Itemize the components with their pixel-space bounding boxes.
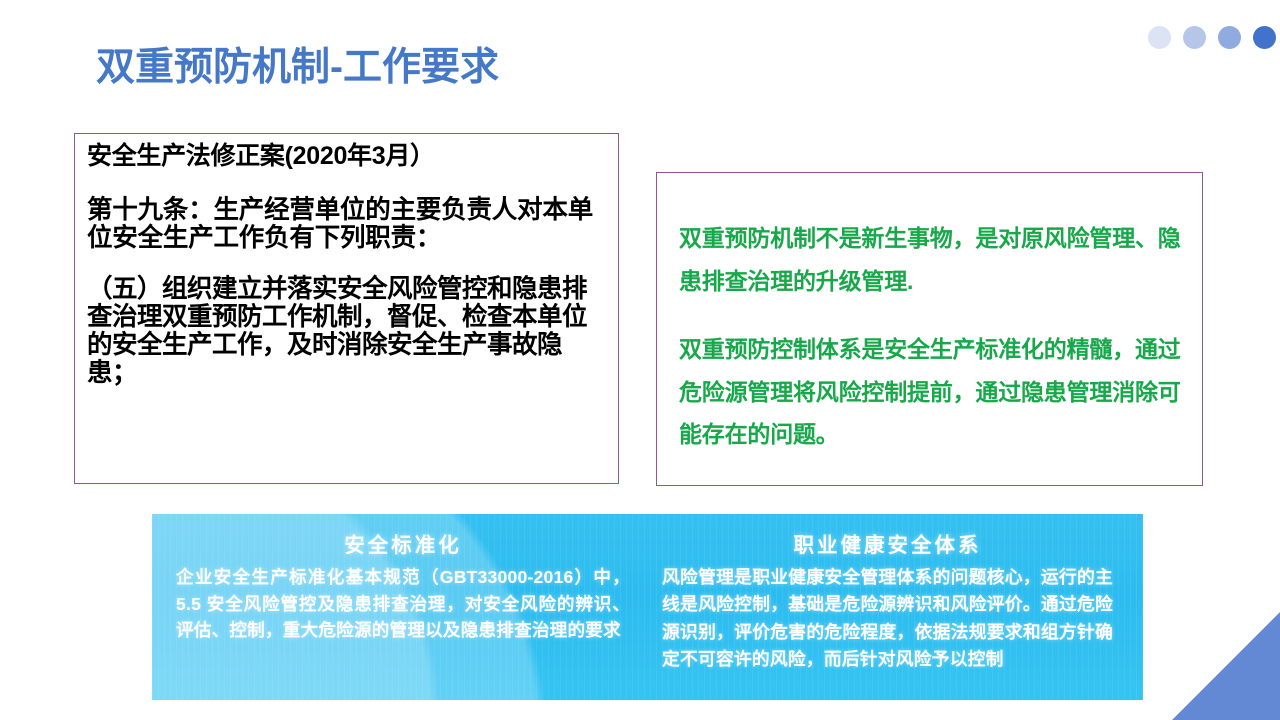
note-paragraph-1: 双重预防机制不是新生事物，是对原风险管理、隐患排查治理的升级管理. [679, 217, 1184, 302]
dot-medium-icon [1218, 26, 1241, 49]
panel-column-heading: 职业健康安全体系 [662, 528, 1113, 558]
law-paragraph-1: 第十九条：生产经营单位的主要负责人对本单位安全生产工作负有下列职责： [87, 196, 610, 253]
panel-column-body: 企业安全生产标准化基本规范（GBT33000-2016）中，5.5 安全风险管控… [176, 564, 630, 644]
law-text-box: 安全生产法修正案(2020年3月） 第十九条：生产经营单位的主要负责人对本单位安… [74, 133, 619, 484]
note-paragraph-2: 双重预防控制体系是安全生产标准化的精髓，通过危险源管理将风险控制提前，通过隐患管… [679, 328, 1184, 456]
law-heading: 安全生产法修正案(2020年3月） [87, 144, 610, 170]
dot-lightest-icon [1148, 26, 1171, 49]
decorative-dots [1148, 26, 1276, 49]
corner-triangle-icon [1172, 612, 1280, 720]
dot-light-icon [1183, 26, 1206, 49]
law-paragraph-2: （五）组织建立并落实安全风险管控和隐患排查治理双重预防工作机制，督促、检查本单位… [87, 275, 610, 387]
comparison-panel: 安全标准化 企业安全生产标准化基本规范（GBT33000-2016）中，5.5 … [152, 514, 1143, 700]
panel-column-safety-standardization: 安全标准化 企业安全生产标准化基本规范（GBT33000-2016）中，5.5 … [152, 514, 644, 700]
panel-column-body: 风险管理是职业健康安全管理体系的问题核心，运行的主线是风险控制，基础是危险源辨识… [662, 564, 1113, 674]
panel-column-heading: 安全标准化 [176, 528, 630, 558]
dot-dark-icon [1253, 26, 1276, 49]
corner-decoration [1120, 560, 1280, 720]
note-text-box: 双重预防机制不是新生事物，是对原风险管理、隐患排查治理的升级管理. 双重预防控制… [656, 172, 1203, 486]
panel-column-occupational-health: 职业健康安全体系 风险管理是职业健康安全管理体系的问题核心，运行的主线是风险控制… [644, 514, 1143, 700]
page-title: 双重预防机制-工作要求 [96, 47, 499, 90]
